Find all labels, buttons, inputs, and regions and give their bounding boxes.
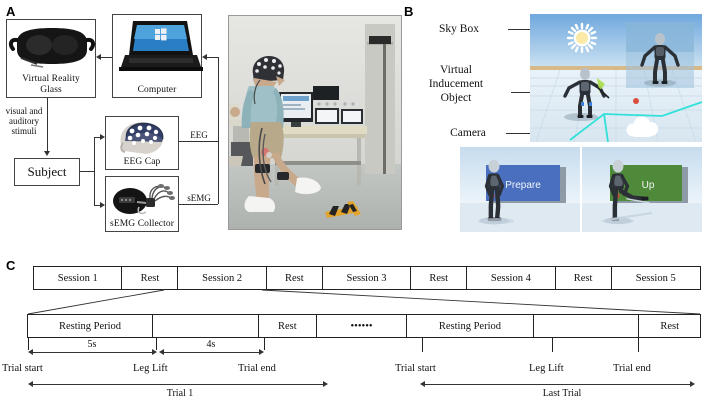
eeg-cap-icon [106,117,178,157]
session-cell: Session 1 [34,267,122,289]
vr-glass-label: Virtual Reality Glass [22,74,80,97]
semg-out-line [179,204,218,205]
computer-box: Computer [112,14,202,98]
event-lasttrial-end-label: Trial end [613,363,651,374]
trial-cell: Rest [639,315,700,337]
span-lasttrial-label: Last Trial [522,388,602,399]
session-cell: Rest [411,267,467,289]
trial-row: Resting PeriodRest••••••Resting PeriodRe… [27,314,701,338]
vr-glass-box: Virtual Reality Glass [6,19,96,98]
eeg-cap-label: EEG Cap [124,157,161,170]
span-trial1-label: Trial 1 [145,388,215,399]
vr-to-subject-line [47,98,48,151]
experiment-photo [228,15,402,230]
duration-5s-label: 5s [62,339,122,350]
subject-bus-vertical [94,137,95,205]
tick-lasttrial-end [638,338,639,352]
subject-to-eeg-arrowhead [100,134,105,140]
virtual-label-line3: Object [441,92,472,104]
sky-box-label: Sky Box [413,23,505,36]
subject-bus-stub [80,171,94,172]
virtual-label-line1: Virtual [440,64,472,76]
session-cell: Session 2 [178,267,266,289]
stimuli-label-line3: stimuli [11,126,36,136]
eeg-out-line [179,141,218,142]
semg-collector-label: sEMG Collector [110,219,174,232]
semg-collector-icon [106,177,178,219]
subject-to-semg-arrowhead [100,202,105,208]
computer-to-vr-arrowhead [96,54,101,60]
span-lasttrial-line [423,384,691,385]
session-cell: Rest [556,267,612,289]
up-cue-text: Up [642,180,655,191]
dim-4s-line [161,352,261,353]
event-trial1-start-label: Trial start [2,363,43,374]
trial-cell: Resting Period [28,315,153,337]
computer-label: Computer [138,85,177,98]
session-cell: Rest [122,267,178,289]
semg-edge-label: sEMG [180,193,218,203]
laptop-icon [113,15,201,85]
panel-b-letter: B [404,4,413,19]
sun-icon [568,24,596,52]
event-trial1-end-label: Trial end [238,363,276,374]
dim-5s-left-arrow [28,349,33,355]
trial-cell: •••••• [317,315,407,337]
tick-lasttrial-start [422,338,423,352]
bus-to-computer-arrowhead [202,54,207,60]
eeg-cap-box: EEG Cap [105,116,179,170]
semg-collector-box: sEMG Collector [105,176,179,232]
data-bus-vertical [218,57,219,204]
session-cell: Session 4 [467,267,555,289]
session-cell: Session 3 [323,267,411,289]
eeg-edge-label: EEG [182,130,216,140]
subject-box: Subject [14,158,80,186]
trial-cell [534,315,639,337]
event-trial1-leglift-label: Leg Lift [133,363,168,374]
vr-to-subject-arrowhead [44,151,50,156]
stimuli-edge-label: visual and auditory stimuli [2,106,46,136]
virtual-inducement-object-label: Virtual Inducement Object [404,63,508,105]
span-trial1-left-arrow [28,381,33,387]
camera-label: Camera [430,127,506,140]
vr-glass-label-line1: Virtual Reality [22,74,80,84]
stimuli-label-line1: visual and [6,106,43,116]
vr-scene-main [530,14,702,142]
stimuli-label-line2: auditory [9,116,39,126]
trial-cell: Resting Period [407,315,534,337]
panel-c-letter: C [6,258,15,273]
session-cell: Session 5 [612,267,700,289]
virtual-label-line2: Inducement [429,78,483,90]
span-trial1-line [31,384,324,385]
vr-glass-label-line2: Glass [40,85,62,95]
prepare-cue-text: Prepare [505,180,541,191]
dim-4s-left-arrow [159,349,164,355]
tick-trial1-end [264,338,265,350]
event-lasttrial-leglift-label: Leg Lift [529,363,564,374]
vr-scene-prepare: Prepare [460,147,580,232]
trial-cell: Rest [259,315,318,337]
session-row: Session 1RestSession 2RestSession 3RestS… [33,266,701,290]
dim-5s-right-arrow [152,349,157,355]
trial-cell [153,315,258,337]
event-lasttrial-start-label: Trial start [395,363,436,374]
span-lasttrial-left-arrow [420,381,425,387]
computer-to-vr-line [101,57,112,58]
bus-to-computer-line [207,57,218,58]
span-trial1-right-arrow [323,381,328,387]
vr-scene-up: Up [582,147,702,232]
session-cell: Rest [267,267,323,289]
span-lasttrial-right-arrow [690,381,695,387]
dim-5s-line [30,352,154,353]
session-expansion-lines [0,289,708,315]
duration-4s-label: 4s [181,339,241,350]
vr-headset-icon [7,20,95,74]
dim-4s-right-arrow [259,349,264,355]
panel-a-letter: A [6,4,15,19]
tick-lasttrial-leglift [552,338,553,352]
